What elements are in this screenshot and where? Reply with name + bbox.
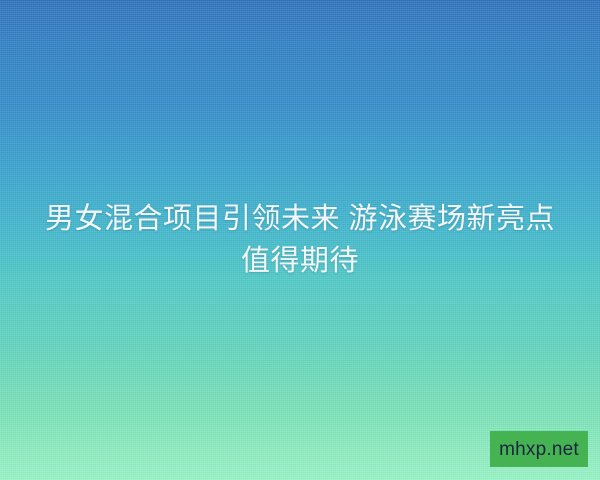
headline-line-1: 男女混合项目引领未来 游泳赛场新亮点 bbox=[22, 198, 578, 240]
headline-line-2: 值得期待 bbox=[22, 240, 578, 282]
headline-title: 男女混合项目引领未来 游泳赛场新亮点 值得期待 bbox=[0, 198, 600, 282]
banner-image: 男女混合项目引领未来 游泳赛场新亮点 值得期待 mhxp.net bbox=[0, 0, 600, 480]
watermark-label: mhxp.net bbox=[499, 440, 579, 459]
watermark-badge: mhxp.net bbox=[490, 431, 588, 467]
